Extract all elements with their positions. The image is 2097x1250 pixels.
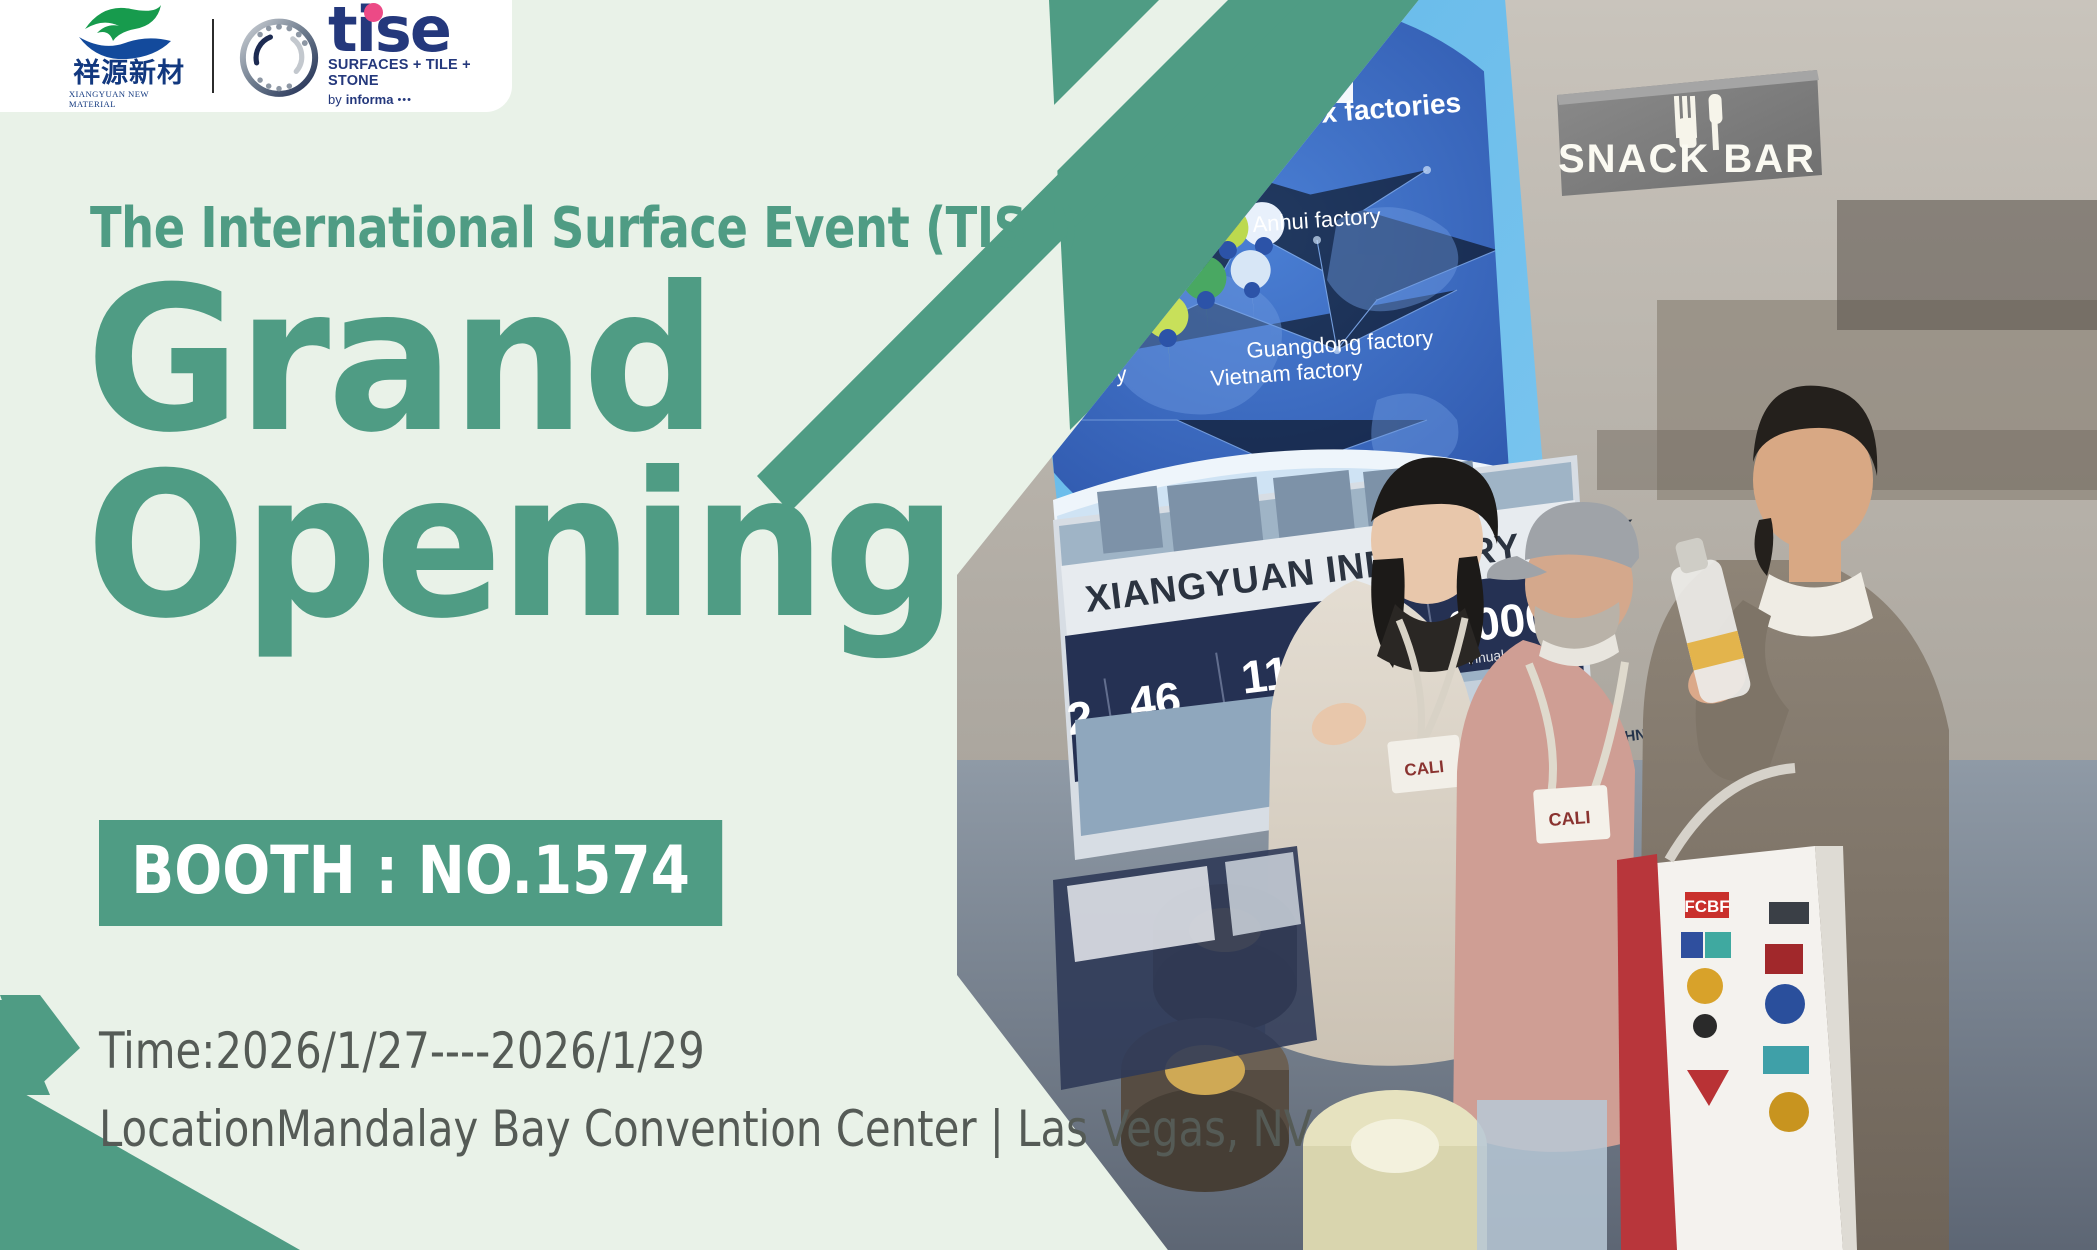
logo-bar: 祥源新材 XIANGYUAN NEW MATERIAL (0, 0, 512, 112)
tise-wordmark: tise (328, 5, 512, 56)
promotional-banner: SNACK BAR (0, 0, 2097, 1250)
logo-divider (212, 19, 214, 93)
booth-number-badge: BOOTH : NO.1574 (99, 820, 722, 926)
tise-logo: tise SURFACES + TILE + STONE by informa … (236, 5, 512, 108)
svg-text:CALI: CALI (1548, 807, 1591, 830)
xiangyuan-chinese-name: 祥源新材 (73, 60, 185, 87)
wave-mark-icon (73, 3, 185, 59)
svg-text:SNACK BAR: SNACK BAR (1558, 137, 1816, 181)
svg-text:FCBF: FCBF (1684, 897, 1729, 916)
event-time: Time:2026/1/27----2026/1/29 (99, 1022, 705, 1080)
tise-tagline: SURFACES + TILE + STONE (328, 57, 512, 89)
byline-prefix: by (328, 92, 342, 107)
event-location: LocationMandalay Bay Convention Center |… (99, 1100, 1312, 1158)
xiangyuan-logo: 祥源新材 XIANGYUAN NEW MATERIAL (70, 3, 188, 109)
byline-brand: informa (346, 92, 394, 107)
tise-pink-dot-icon (364, 3, 383, 22)
xiangyuan-english-name: XIANGYUAN NEW MATERIAL (69, 89, 189, 109)
dotted-ring-icon (236, 13, 322, 99)
headline-line-1: Grand (86, 268, 955, 454)
tise-byline: by informa ••• (328, 92, 512, 107)
byline-dots: ••• (397, 94, 412, 106)
page-title: Grand Opening (86, 268, 955, 640)
headline-line-2: Opening (86, 454, 955, 640)
